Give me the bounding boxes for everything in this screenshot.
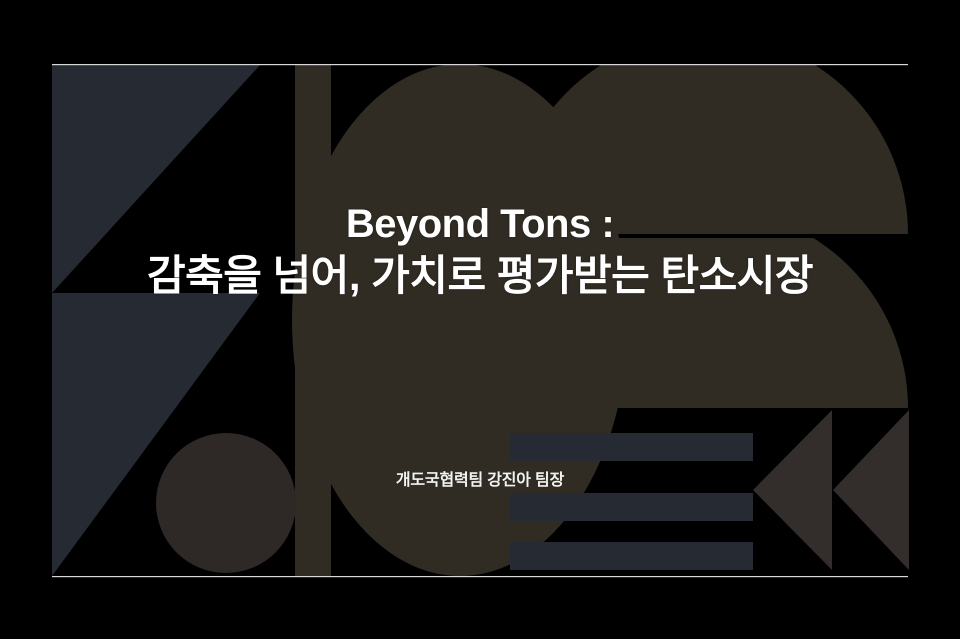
title-line-secondary: 감축을 넘어, 가치로 평가받는 탄소시장 xyxy=(0,248,960,304)
page-title: Beyond Tons : 감축을 넘어, 가치로 평가받는 탄소시장 xyxy=(0,200,960,304)
title-line-primary: Beyond Tons : xyxy=(0,200,960,248)
text-layer: Beyond Tons : 감축을 넘어, 가치로 평가받는 탄소시장 개도국협… xyxy=(0,0,960,639)
presenter-byline: 개도국협력팀 강진아 팀장 xyxy=(0,466,960,490)
title-slide: Beyond Tons : 감축을 넘어, 가치로 평가받는 탄소시장 개도국협… xyxy=(0,0,960,639)
